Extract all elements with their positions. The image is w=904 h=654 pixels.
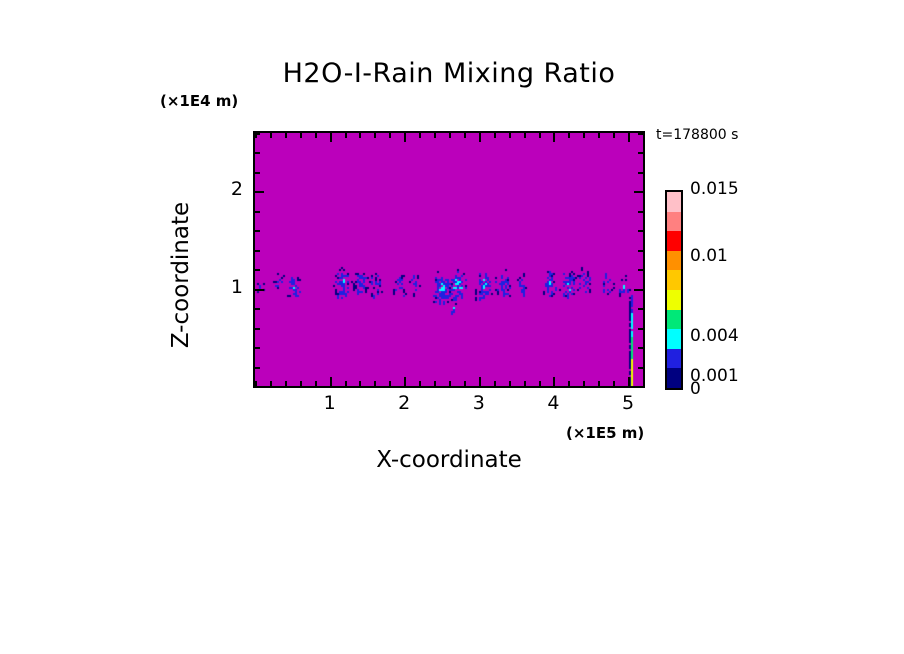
colorbar xyxy=(665,190,683,390)
colorbar-tick-label: 0.004 xyxy=(690,326,739,346)
colorbar-band xyxy=(667,329,681,349)
tick-mark xyxy=(345,133,347,138)
tick-mark xyxy=(255,133,260,135)
tick-mark xyxy=(638,367,643,369)
tick-mark xyxy=(255,328,260,330)
tick-mark xyxy=(539,133,541,138)
tick-mark xyxy=(539,381,541,386)
tick-mark xyxy=(315,133,317,138)
tick-mark xyxy=(638,328,643,330)
tick-label: 1 xyxy=(219,276,243,298)
tick-mark xyxy=(419,133,421,138)
tick-mark xyxy=(330,377,332,386)
colorbar-tick-label: 0.015 xyxy=(690,179,739,199)
tick-mark xyxy=(389,381,391,386)
tick-mark xyxy=(345,381,347,386)
tick-mark xyxy=(494,381,496,386)
tick-mark xyxy=(359,133,361,138)
colorbar-band xyxy=(667,212,681,232)
tick-mark xyxy=(638,152,643,154)
tick-mark xyxy=(255,347,260,349)
tick-mark xyxy=(638,172,643,174)
tick-mark xyxy=(255,211,260,213)
tick-mark xyxy=(449,381,451,386)
tick-mark xyxy=(613,381,615,386)
tick-mark xyxy=(404,377,406,386)
tick-mark xyxy=(255,172,260,174)
tick-mark xyxy=(583,133,585,138)
colorbar-band xyxy=(667,270,681,290)
tick-mark xyxy=(583,381,585,386)
tick-mark xyxy=(255,191,264,193)
tick-mark xyxy=(330,133,332,142)
y-axis-title: Z-coordinate xyxy=(168,0,196,175)
tick-mark xyxy=(300,133,302,138)
tick-mark xyxy=(628,133,630,142)
tick-mark xyxy=(255,386,260,388)
tick-mark xyxy=(638,211,643,213)
timestamp-annotation: t=178800 s xyxy=(656,127,738,143)
tick-mark xyxy=(270,133,272,138)
colorbar-band xyxy=(667,310,681,330)
tick-mark xyxy=(634,191,643,193)
tick-label: 5 xyxy=(598,392,658,414)
tick-mark xyxy=(389,133,391,138)
heatmap-canvas xyxy=(255,133,643,386)
colorbar-band xyxy=(667,349,681,369)
tick-mark xyxy=(255,289,264,291)
tick-mark xyxy=(638,250,643,252)
page-title: H2O-I-Rain Mixing Ratio xyxy=(253,58,645,89)
tick-label: 4 xyxy=(523,392,583,414)
tick-mark xyxy=(568,381,570,386)
tick-mark xyxy=(285,381,287,386)
tick-mark xyxy=(464,133,466,138)
tick-mark xyxy=(300,381,302,386)
colorbar-band xyxy=(667,192,681,212)
tick-mark xyxy=(434,133,436,138)
colorbar-band xyxy=(667,251,681,271)
tick-mark xyxy=(509,381,511,386)
tick-mark xyxy=(598,381,600,386)
tick-mark xyxy=(524,381,526,386)
tick-mark xyxy=(404,133,406,142)
figure-root: H2O-I-Rain Mixing Ratio (×1E4 m) t=17880… xyxy=(0,0,904,654)
tick-mark xyxy=(553,377,555,386)
tick-mark xyxy=(598,133,600,138)
tick-mark xyxy=(464,381,466,386)
tick-mark xyxy=(374,381,376,386)
tick-mark xyxy=(255,308,260,310)
tick-mark xyxy=(359,381,361,386)
tick-mark xyxy=(613,133,615,138)
tick-mark xyxy=(449,133,451,138)
tick-label: 3 xyxy=(449,392,509,414)
tick-mark xyxy=(419,381,421,386)
colorbar-band xyxy=(667,231,681,251)
tick-mark xyxy=(638,133,643,135)
colorbar-tick-label: 0 xyxy=(690,379,701,399)
tick-mark xyxy=(255,230,260,232)
x-axis-units-label: (×1E5 m) xyxy=(566,424,644,442)
tick-mark xyxy=(628,377,630,386)
tick-mark xyxy=(479,377,481,386)
tick-label: 2 xyxy=(374,392,434,414)
tick-mark xyxy=(434,381,436,386)
tick-mark xyxy=(255,152,260,154)
tick-mark xyxy=(638,269,643,271)
tick-mark xyxy=(524,133,526,138)
colorbar-tick-label: 0.01 xyxy=(690,246,728,266)
tick-mark xyxy=(638,347,643,349)
tick-mark xyxy=(568,133,570,138)
tick-mark xyxy=(255,269,260,271)
tick-mark xyxy=(638,230,643,232)
tick-mark xyxy=(285,133,287,138)
tick-mark xyxy=(553,133,555,142)
tick-label: 2 xyxy=(219,178,243,200)
tick-mark xyxy=(634,289,643,291)
tick-mark xyxy=(638,386,643,388)
x-axis-title: X-coordinate xyxy=(253,447,645,473)
tick-mark xyxy=(270,381,272,386)
tick-mark xyxy=(315,381,317,386)
colorbar-band xyxy=(667,290,681,310)
tick-mark xyxy=(374,133,376,138)
tick-mark xyxy=(509,133,511,138)
plot-area xyxy=(253,131,645,388)
tick-mark xyxy=(494,133,496,138)
tick-mark xyxy=(643,381,645,386)
tick-mark xyxy=(255,250,260,252)
colorbar-band xyxy=(667,368,681,388)
tick-mark xyxy=(255,367,260,369)
tick-mark xyxy=(638,308,643,310)
tick-label: 1 xyxy=(300,392,360,414)
tick-mark xyxy=(643,133,645,138)
tick-mark xyxy=(479,133,481,142)
y-axis-title-text: Z-coordinate xyxy=(168,175,194,375)
